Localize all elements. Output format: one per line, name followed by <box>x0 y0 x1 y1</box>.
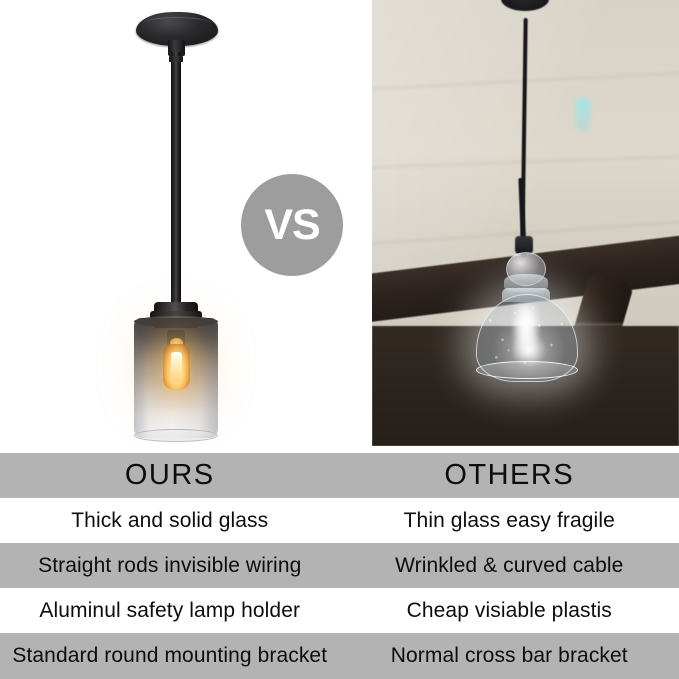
ours-feature: Aluminul safety lamp holder <box>0 588 340 633</box>
bulb-glare <box>513 303 539 357</box>
ours-feature: Thick and solid glass <box>0 498 340 543</box>
comparison-table: OURS OTHERS Thick and solid glass Thin g… <box>0 453 679 679</box>
others-product-image <box>372 0 679 446</box>
ours-feature: Straight rods invisible wiring <box>0 543 340 588</box>
header-ours: OURS <box>0 453 340 498</box>
header-others: OTHERS <box>340 453 679 498</box>
table-row: Standard round mounting bracket Normal c… <box>0 633 679 679</box>
bulb-filament <box>171 352 182 382</box>
table-row: Thick and solid glass Thin glass easy fr… <box>0 498 679 543</box>
vs-badge-label: VS <box>264 204 319 247</box>
others-feature: Normal cross bar bracket <box>340 633 679 679</box>
straight-rod <box>171 52 181 304</box>
others-feature: Thin glass easy fragile <box>340 498 679 543</box>
window-reflection <box>575 98 591 132</box>
others-feature: Wrinkled & curved cable <box>340 543 679 588</box>
image-row: VS <box>0 0 679 453</box>
rod-joint <box>169 56 183 62</box>
table-header-row: OURS OTHERS <box>0 453 679 498</box>
comparison-infographic: VS OURS <box>0 0 679 679</box>
table-row: Aluminul safety lamp holder Cheap visiab… <box>0 588 679 633</box>
others-feature: Cheap visiable plastis <box>340 588 679 633</box>
table-row: Straight rods invisible wiring Wrinkled … <box>0 543 679 588</box>
vs-badge: VS <box>241 174 343 276</box>
shade-bottom-rim <box>134 429 218 442</box>
ours-feature: Standard round mounting bracket <box>0 633 340 679</box>
